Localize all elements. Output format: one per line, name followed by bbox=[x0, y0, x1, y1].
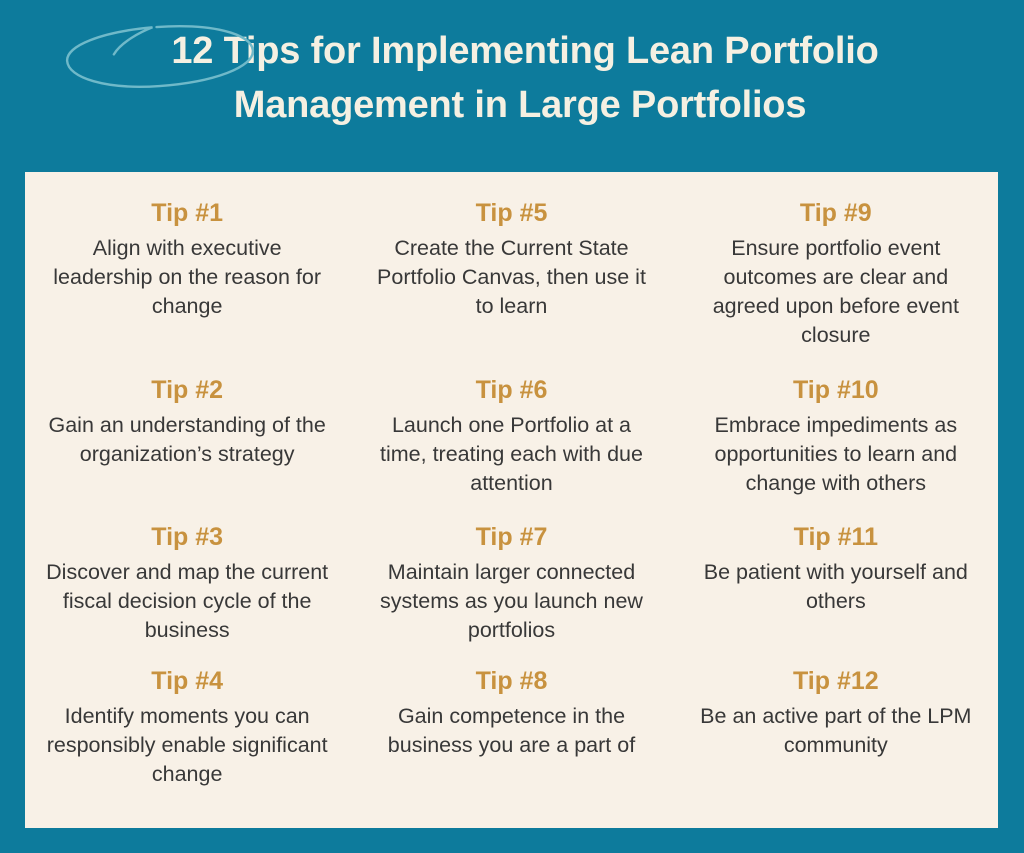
tip-body: Launch one Portfolio at a time, treating… bbox=[370, 411, 652, 498]
tip-body: Be patient with yourself and others bbox=[688, 558, 984, 616]
tips-grid: Tip #1 Align with executive leadership o… bbox=[25, 172, 998, 828]
tip-body: Discover and map the current fiscal deci… bbox=[42, 558, 332, 645]
tip-body: Gain competence in the business you are … bbox=[370, 702, 652, 760]
tip-card: Tip #6 Launch one Portfolio at a time, t… bbox=[349, 347, 673, 494]
tip-card: Tip #1 Align with executive leadership o… bbox=[25, 172, 349, 347]
tip-heading: Tip #5 bbox=[363, 198, 659, 228]
tip-heading: Tip #2 bbox=[39, 375, 335, 405]
tip-heading: Tip #7 bbox=[363, 522, 659, 552]
tip-heading: Tip #10 bbox=[688, 375, 984, 405]
tip-card: Tip #3 Discover and map the current fisc… bbox=[25, 494, 349, 640]
tip-card: Tip #5 Create the Current State Portfoli… bbox=[349, 172, 673, 347]
tip-card: Tip #12 Be an active part of the LPM com… bbox=[674, 640, 998, 828]
tip-card: Tip #4 Identify moments you can responsi… bbox=[25, 640, 349, 828]
tip-body: Create the Current State Portfolio Canva… bbox=[370, 234, 652, 321]
tip-card: Tip #8 Gain competence in the business y… bbox=[349, 640, 673, 828]
tip-card: Tip #2 Gain an understanding of the orga… bbox=[25, 347, 349, 494]
tip-heading: Tip #8 bbox=[363, 666, 659, 696]
title-line-2: Management in Large Portfolios bbox=[0, 78, 1024, 132]
tips-panel: Tip #1 Align with executive leadership o… bbox=[25, 172, 998, 828]
tip-card: Tip #9 Ensure portfolio event outcomes a… bbox=[674, 172, 998, 347]
tip-heading: Tip #4 bbox=[39, 666, 335, 696]
tip-heading: Tip #1 bbox=[39, 198, 335, 228]
tip-card: Tip #10 Embrace impediments as opportuni… bbox=[674, 347, 998, 494]
tip-body: Embrace impediments as opportunities to … bbox=[688, 411, 984, 498]
title-line-1: 12 Tips for Implementing Lean Portfolio bbox=[0, 24, 1024, 78]
header-banner: 12 Tips for Implementing Lean Portfolio … bbox=[0, 0, 1024, 172]
tip-heading: Tip #11 bbox=[688, 522, 984, 552]
tip-body: Maintain larger connected systems as you… bbox=[370, 558, 652, 645]
tip-heading: Tip #3 bbox=[39, 522, 335, 552]
tip-body: Ensure portfolio event outcomes are clea… bbox=[688, 234, 984, 350]
tip-heading: Tip #9 bbox=[688, 198, 984, 228]
tip-heading: Tip #12 bbox=[688, 666, 984, 696]
tip-body: Be an active part of the LPM community bbox=[688, 702, 984, 760]
page-title: 12 Tips for Implementing Lean Portfolio … bbox=[0, 24, 1024, 132]
tip-body: Align with executive leadership on the r… bbox=[42, 234, 332, 321]
tip-body: Gain an understanding of the organizatio… bbox=[42, 411, 332, 469]
tip-body: Identify moments you can responsibly ena… bbox=[42, 702, 332, 789]
tip-heading: Tip #6 bbox=[363, 375, 659, 405]
tip-card: Tip #11 Be patient with yourself and oth… bbox=[674, 494, 998, 640]
tip-card: Tip #7 Maintain larger connected systems… bbox=[349, 494, 673, 640]
